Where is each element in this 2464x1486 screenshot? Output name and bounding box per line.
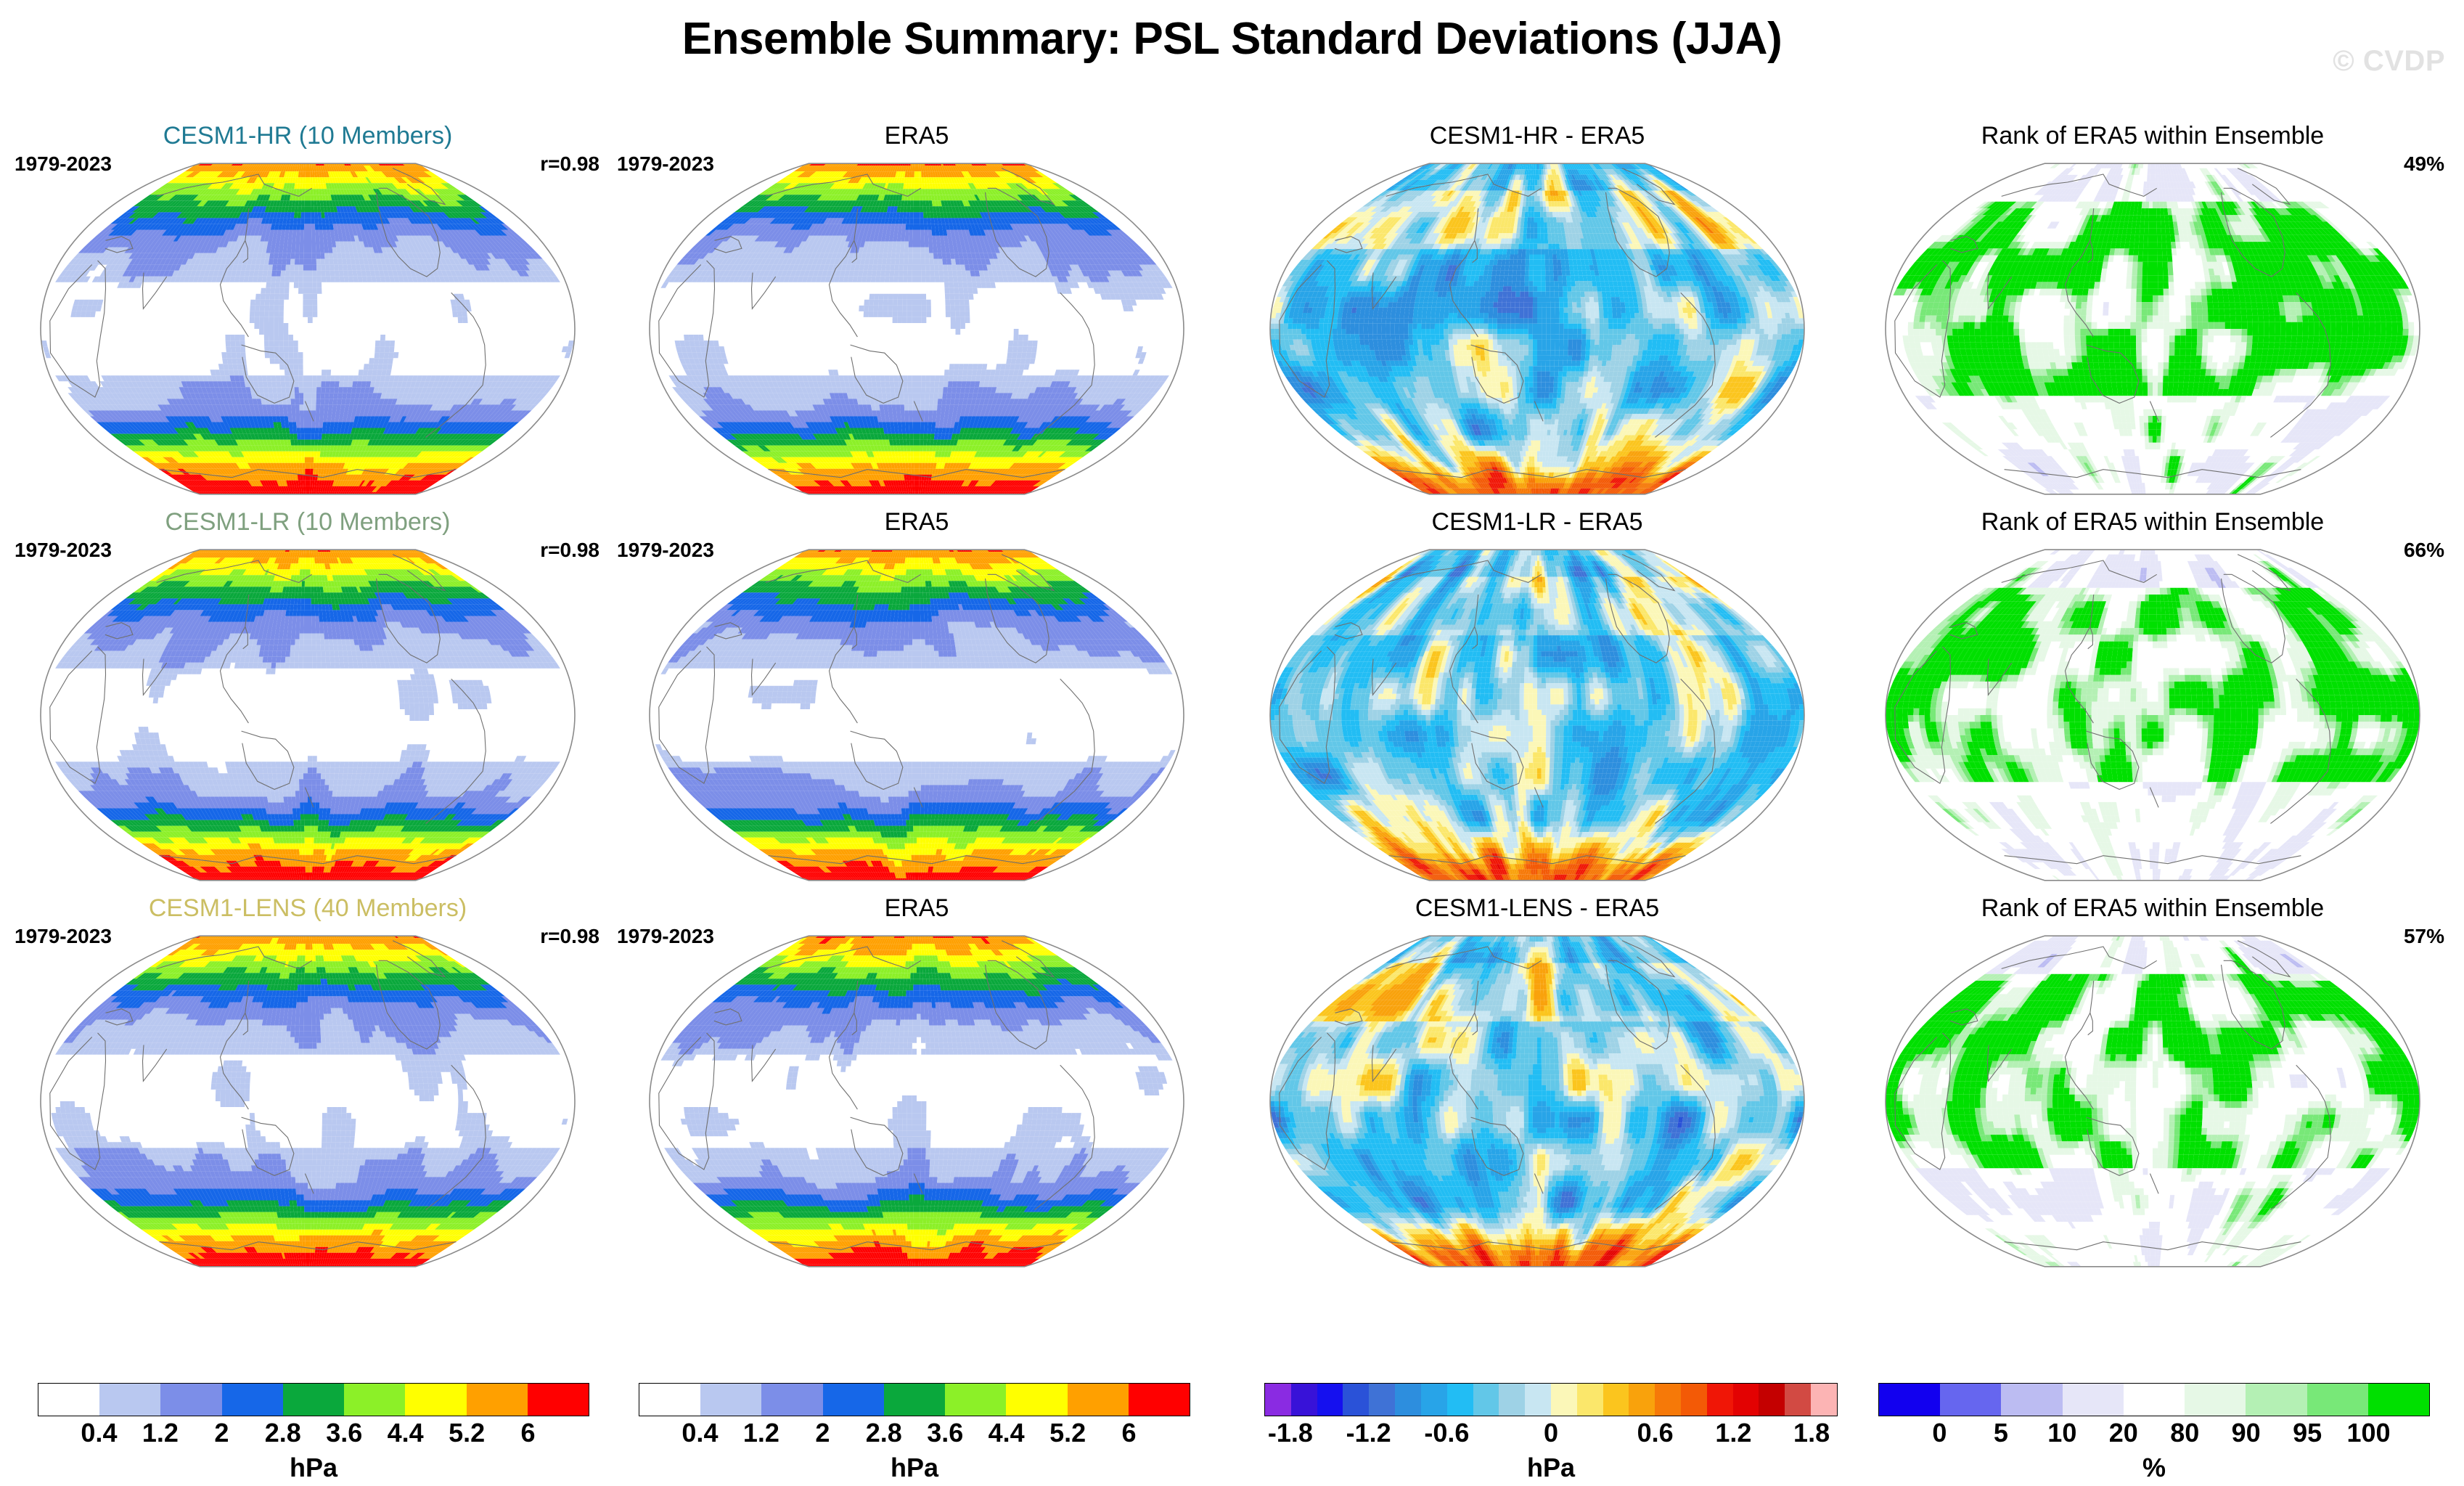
colorbar-tick-label: 2.8 <box>866 1418 902 1448</box>
panel-title: CESM1-LENS - ERA5 <box>1243 894 1832 923</box>
colorbar-swatch-6 <box>1006 1384 1067 1416</box>
colorbar-tick-label: 5 <box>1994 1418 2008 1448</box>
colorbar-swatch-7 <box>1447 1384 1473 1416</box>
colorbar-tick-label: 1.2 <box>142 1418 179 1448</box>
colorbar-ticks: 0.41.222.83.64.45.26 <box>38 1418 589 1451</box>
colorbar-swatch-7 <box>2307 1384 2368 1416</box>
colorbar-swatch-6 <box>405 1384 466 1416</box>
colorbar-tick-label: -1.8 <box>1268 1418 1313 1448</box>
colorbar-tick-label: 3.6 <box>927 1418 963 1448</box>
colorbar-swatch-12 <box>1577 1384 1603 1416</box>
colorbar-tick-label: 6 <box>521 1418 536 1448</box>
colorbar-swatch-4 <box>283 1384 344 1416</box>
colorbar-swatch-2 <box>2001 1384 2062 1416</box>
colorbar-swatch-3 <box>222 1384 283 1416</box>
map-era5-std-3 <box>615 920 1218 1282</box>
colorbar-swatch-8 <box>1473 1384 1499 1416</box>
colorbar-swatch-8 <box>2368 1384 2429 1416</box>
colorbar-swatch-1 <box>700 1384 761 1416</box>
map-diff-hr <box>1243 148 1832 510</box>
panel-rank-lens: Rank of ERA5 within Ensemble57% <box>1858 894 2447 1290</box>
colorbar-unit-label: hPa <box>38 1453 589 1483</box>
colorbar-swatch-4 <box>1369 1384 1395 1416</box>
map-holder <box>1243 148 1832 510</box>
map-holder <box>615 148 1218 510</box>
panel-diff-hr: CESM1-HR - ERA5 <box>1243 122 1832 518</box>
map-holder <box>13 148 602 510</box>
colorbar-rank-percentile-colorbar: 051020809095100% <box>1878 1383 2430 1483</box>
colorbar-tick-label: 0 <box>1544 1418 1558 1448</box>
colorbar-swatch-7 <box>467 1384 528 1416</box>
colorbar-swatch-4 <box>884 1384 945 1416</box>
colorbar-tick-label: 3.6 <box>326 1418 362 1448</box>
colorbar-swatch-8 <box>1129 1384 1190 1416</box>
map-diff-lr <box>1243 534 1832 896</box>
colorbar-tick-label: 5.2 <box>449 1418 485 1448</box>
colorbar-swatch-16 <box>1681 1384 1707 1416</box>
colorbar-difference-colorbar: -1.8-1.2-0.600.61.21.8hPa <box>1264 1383 1838 1483</box>
colorbar-tick-label: 4.4 <box>388 1418 424 1448</box>
panel-title: CESM1-LR (10 Members) <box>13 508 602 536</box>
panel-title: CESM1-HR (10 Members) <box>13 122 602 150</box>
colorbar-swatch-0 <box>639 1384 700 1416</box>
map-holder <box>13 920 602 1282</box>
colorbar-unit-label: % <box>1878 1453 2430 1483</box>
colorbar-tick-label: 5.2 <box>1049 1418 1086 1448</box>
colorbar-tick-label: 20 <box>2109 1418 2138 1448</box>
map-holder <box>1858 534 2447 896</box>
colorbar-swatch-3 <box>2063 1384 2124 1416</box>
map-model-std-lr <box>13 534 602 896</box>
map-holder <box>1243 920 1832 1282</box>
panel-rank-hr: Rank of ERA5 within Ensemble49% <box>1858 122 2447 518</box>
colorbar-tick-label: 1.2 <box>1715 1418 1751 1448</box>
map-rank-lr <box>1858 534 2447 896</box>
panel-title: Rank of ERA5 within Ensemble <box>1858 122 2447 150</box>
map-era5-std-1 <box>615 148 1218 510</box>
colorbar-swatch-13 <box>1603 1384 1629 1416</box>
colorbar-psl-standard-deviation-colorbar: 0.41.222.83.64.45.26hPa <box>639 1383 1190 1483</box>
colorbar-tick-label: 0.6 <box>1637 1418 1674 1448</box>
colorbar-strip <box>639 1383 1190 1416</box>
colorbar-swatch-5 <box>344 1384 405 1416</box>
page-title: Ensemble Summary: PSL Standard Deviation… <box>0 13 2464 65</box>
colorbar-swatch-4 <box>2124 1384 2185 1416</box>
map-model-std-hr <box>13 148 602 510</box>
colorbar-swatch-21 <box>1811 1384 1837 1416</box>
colorbar-swatch-2 <box>761 1384 822 1416</box>
map-holder <box>13 534 602 896</box>
map-holder <box>1858 148 2447 510</box>
colorbar-swatch-5 <box>945 1384 1006 1416</box>
colorbar-swatch-2 <box>160 1384 221 1416</box>
colorbar-tick-label: 95 <box>2293 1418 2322 1448</box>
colorbar-tick-label: -0.6 <box>1424 1418 1469 1448</box>
colorbar-swatch-18 <box>1733 1384 1759 1416</box>
colorbar-unit-label: hPa <box>1264 1453 1838 1483</box>
panel-era5-std-2: ERA51979-2023 <box>615 508 1218 904</box>
panel-model-std-lr: CESM1-LR (10 Members)1979-2023r=0.98 <box>13 508 602 904</box>
map-diff-lens <box>1243 920 1832 1282</box>
colorbar-swatch-3 <box>823 1384 884 1416</box>
colorbar-swatch-6 <box>1421 1384 1447 1416</box>
colorbar-swatch-14 <box>1629 1384 1655 1416</box>
colorbar-tick-label: 0 <box>1932 1418 1947 1448</box>
colorbar-swatch-6 <box>2246 1384 2307 1416</box>
panel-title: Rank of ERA5 within Ensemble <box>1858 508 2447 536</box>
colorbar-tick-label: 90 <box>2232 1418 2261 1448</box>
colorbar-strip <box>38 1383 589 1416</box>
colorbar-swatch-2 <box>1317 1384 1343 1416</box>
map-rank-hr <box>1858 148 2447 510</box>
colorbar-swatch-8 <box>528 1384 589 1416</box>
panel-title: CESM1-LR - ERA5 <box>1243 508 1832 536</box>
colorbar-swatch-19 <box>1759 1384 1785 1416</box>
colorbar-tick-label: 2.8 <box>265 1418 301 1448</box>
colorbar-swatch-7 <box>1068 1384 1129 1416</box>
colorbar-swatch-0 <box>38 1384 99 1416</box>
map-holder <box>615 534 1218 896</box>
colorbar-swatch-3 <box>1343 1384 1369 1416</box>
panel-diff-lens: CESM1-LENS - ERA5 <box>1243 894 1832 1290</box>
colorbar-psl-standard-deviation-colorbar: 0.41.222.83.64.45.26hPa <box>38 1383 589 1483</box>
panel-title: CESM1-LENS (40 Members) <box>13 894 602 923</box>
panel-title: CESM1-HR - ERA5 <box>1243 122 1832 150</box>
colorbar-tick-label: 0.4 <box>682 1418 718 1448</box>
colorbar-tick-label: -1.2 <box>1346 1418 1391 1448</box>
panel-title: ERA5 <box>615 894 1218 923</box>
cvdp-watermark: © CVDP <box>2333 45 2445 78</box>
map-rank-lens <box>1858 920 2447 1282</box>
colorbar-tick-label: 10 <box>2047 1418 2076 1448</box>
colorbar-swatch-9 <box>1499 1384 1525 1416</box>
panel-title: ERA5 <box>615 122 1218 150</box>
colorbar-unit-label: hPa <box>639 1453 1190 1483</box>
colorbar-tick-label: 100 <box>2347 1418 2391 1448</box>
colorbar-tick-label: 2 <box>214 1418 229 1448</box>
map-era5-std-2 <box>615 534 1218 896</box>
colorbar-swatch-20 <box>1785 1384 1811 1416</box>
colorbar-tick-label: 2 <box>815 1418 830 1448</box>
colorbar-swatch-5 <box>1395 1384 1421 1416</box>
colorbar-swatch-15 <box>1655 1384 1681 1416</box>
colorbar-tick-label: 0.4 <box>81 1418 117 1448</box>
colorbar-tick-label: 6 <box>1122 1418 1137 1448</box>
colorbar-ticks: 0.41.222.83.64.45.26 <box>639 1418 1190 1451</box>
colorbar-tick-label: 1.8 <box>1793 1418 1830 1448</box>
colorbar-swatch-10 <box>1525 1384 1551 1416</box>
map-model-std-lens <box>13 920 602 1282</box>
colorbar-tick-label: 1.2 <box>743 1418 779 1448</box>
panel-title: ERA5 <box>615 508 1218 536</box>
colorbar-swatch-11 <box>1551 1384 1577 1416</box>
colorbar-tick-label: 80 <box>2170 1418 2199 1448</box>
colorbar-ticks: 051020809095100 <box>1878 1418 2430 1451</box>
colorbar-swatch-0 <box>1265 1384 1291 1416</box>
colorbar-strip <box>1264 1383 1838 1416</box>
colorbar-swatch-17 <box>1707 1384 1733 1416</box>
panel-era5-std-3: ERA51979-2023 <box>615 894 1218 1290</box>
colorbar-strip <box>1878 1383 2430 1416</box>
colorbar-tick-label: 4.4 <box>989 1418 1025 1448</box>
panel-title: Rank of ERA5 within Ensemble <box>1858 894 2447 923</box>
colorbar-swatch-1 <box>99 1384 160 1416</box>
panel-model-std-hr: CESM1-HR (10 Members)1979-2023r=0.98 <box>13 122 602 518</box>
map-holder <box>1243 534 1832 896</box>
panel-rank-lr: Rank of ERA5 within Ensemble66% <box>1858 508 2447 904</box>
panel-diff-lr: CESM1-LR - ERA5 <box>1243 508 1832 904</box>
colorbar-swatch-1 <box>1940 1384 2001 1416</box>
panel-era5-std-1: ERA51979-2023 <box>615 122 1218 518</box>
colorbar-swatch-0 <box>1879 1384 1940 1416</box>
colorbar-ticks: -1.8-1.2-0.600.61.21.8 <box>1264 1418 1838 1451</box>
colorbar-swatch-1 <box>1291 1384 1317 1416</box>
panel-model-std-lens: CESM1-LENS (40 Members)1979-2023r=0.98 <box>13 894 602 1290</box>
map-holder <box>615 920 1218 1282</box>
map-holder <box>1858 920 2447 1282</box>
colorbar-swatch-5 <box>2185 1384 2246 1416</box>
